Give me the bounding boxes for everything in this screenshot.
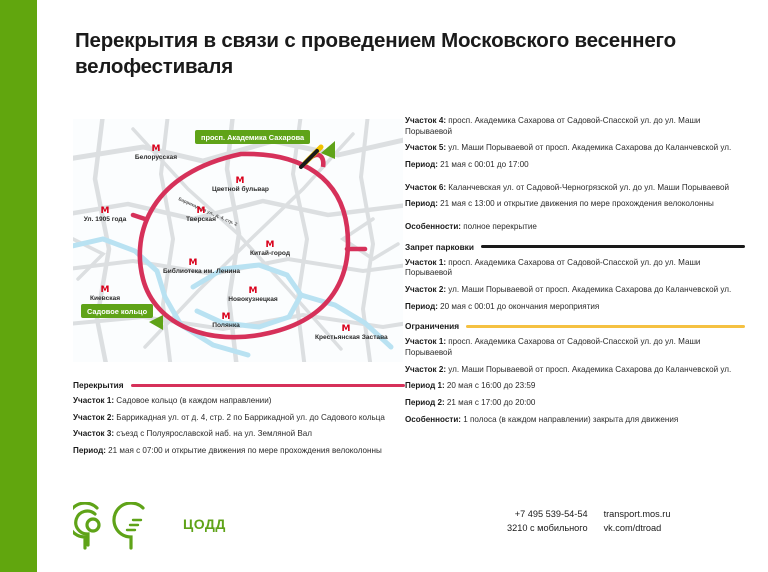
item-text: 21 мая с 13:00 и открытие движения по ме… xyxy=(438,199,714,208)
section-rule-red xyxy=(131,384,405,387)
metro-station-krestyanskaya-zastava: M Крестьянская Застава xyxy=(315,325,377,341)
item-label: Участок 1: xyxy=(73,396,114,405)
section-title: Запрет парковки xyxy=(405,242,474,252)
section-rule-yellow xyxy=(466,325,745,328)
metro-label: Библиотека им. Ленина xyxy=(163,268,223,275)
restrictions-section: Ограничения Участок 1: просп. Академика … xyxy=(405,321,745,425)
item-text: 21 мая с 17:00 до 20:00 xyxy=(445,398,536,407)
item-text: Баррикадная ул. от д. 4, стр. 2 по Барри… xyxy=(114,413,385,422)
list-item: Участок 1: просп. Академика Сахарова от … xyxy=(405,258,745,279)
item-label: Участок 1: xyxy=(405,258,446,267)
section-title: Ограничения xyxy=(405,321,459,331)
list-item: Период: 21 мая с 00:01 до 17:00 xyxy=(405,160,745,171)
closures-heading: Перекрытия xyxy=(73,380,405,390)
list-item: Участок 5: ул. Маши Порываевой от просп.… xyxy=(405,143,745,154)
item-label: Период: xyxy=(405,302,438,311)
metro-label: Крестьянская Застава xyxy=(315,334,377,341)
right-column: Участок 4: просп. Академика Сахарова от … xyxy=(405,116,745,431)
item-text: 21 мая с 07:00 и открытие движения по ме… xyxy=(106,446,382,455)
list-item: Особенности: полное перекрытие xyxy=(405,222,745,233)
section-title: Перекрытия xyxy=(73,380,124,390)
metro-station-biblioteka-im-lenina: M Библиотека им. Ленина xyxy=(163,259,223,275)
metro-label: Белорусская xyxy=(121,154,191,161)
item-label: Период: xyxy=(73,446,106,455)
item-label: Участок 2: xyxy=(405,365,446,374)
item-text: ул. Маши Порываевой от просп. Академика … xyxy=(446,285,731,294)
metro-label: Цветной бульвар xyxy=(212,186,268,193)
codd-logo xyxy=(73,502,181,557)
list-item: Период: 21 мая с 07:00 и открытие движен… xyxy=(73,446,405,457)
vk-link[interactable]: vk.com/dtroad xyxy=(604,521,671,535)
list-item: Период 2: 21 мая с 17:00 до 20:00 xyxy=(405,398,745,409)
parking-ban-section: Запрет парковки Участок 1: просп. Академ… xyxy=(405,242,745,313)
item-text: 21 мая с 00:01 до 17:00 xyxy=(438,160,529,169)
item-label: Период: xyxy=(405,160,438,169)
page-title: Перекрытия в связи с проведением Московс… xyxy=(75,28,735,80)
list-item: Участок 1: просп. Академика Сахарова от … xyxy=(405,337,745,358)
closures-section: Перекрытия Участок 1: Садовое кольцо (в … xyxy=(73,371,405,463)
metro-station-kitay-gorod: M Китай-город xyxy=(239,241,301,257)
list-item: Период: 21 мая с 13:00 и открытие движен… xyxy=(405,199,745,210)
metro-station-belorusskaya: M Белорусская xyxy=(121,145,191,161)
list-item: Период 1: 20 мая с 16:00 до 23:59 xyxy=(405,381,745,392)
codd-logo-text: ЦОДД xyxy=(183,516,226,532)
metro-icon: M xyxy=(163,259,223,267)
item-label: Участок 1: xyxy=(405,337,446,346)
item-text: Садовое кольцо (в каждом направлении) xyxy=(114,396,271,405)
list-item: Участок 4: просп. Академика Сахарова от … xyxy=(405,116,745,137)
poster-page: Перекрытия в связи с проведением Московс… xyxy=(37,0,768,572)
list-item: Особенности: 1 полоса (в каждом направле… xyxy=(405,415,745,426)
parking-ban-heading: Запрет парковки xyxy=(405,242,745,252)
metro-station-novokuznetskaya: M Новокузнецкая xyxy=(216,287,290,303)
metro-icon: M xyxy=(315,325,377,333)
brand-side-bar xyxy=(0,0,37,572)
metro-icon: M xyxy=(199,313,253,321)
item-text: Каланчевская ул. от Садовой-Черногрязско… xyxy=(446,183,729,192)
metro-label: Китай-город xyxy=(239,250,301,257)
metro-label: Киевская xyxy=(77,295,133,302)
metro-icon: M xyxy=(77,286,133,294)
item-label: Участок 2: xyxy=(405,285,446,294)
item-label: Участок 4: xyxy=(405,116,446,125)
list-item: Период: 20 мая с 00:01 до окончания меро… xyxy=(405,302,745,313)
item-text: съезд с Полуярославской наб. на ул. Земл… xyxy=(114,429,312,438)
phone-number: +7 495 539-54-54 xyxy=(507,507,588,521)
item-label: Участок 3: xyxy=(73,429,114,438)
metro-icon: M xyxy=(173,207,229,215)
item-label: Участок 2: xyxy=(73,413,114,422)
item-label: Особенности: xyxy=(405,222,461,231)
footer: ЦОДД +7 495 539-54-54 3210 с мобильного … xyxy=(37,492,768,572)
site-link[interactable]: transport.mos.ru xyxy=(604,507,671,521)
metro-label: Полянка xyxy=(199,322,253,329)
item-text: просп. Академика Сахарова от Садовой-Спа… xyxy=(405,337,700,357)
item-text: 1 полоса (в каждом направлении) закрыта … xyxy=(461,415,678,424)
codd-logo-icon xyxy=(73,502,181,552)
metro-label: Тверская xyxy=(173,216,229,223)
metro-station-ul-1905-goda: M Ул. 1905 года xyxy=(76,207,134,223)
list-item: Участок 3: съезд с Полуярославской наб. … xyxy=(73,429,405,440)
item-label: Период 2: xyxy=(405,398,445,407)
metro-label: Новокузнецкая xyxy=(216,296,290,303)
item-text: ул. Маши Порываевой от просп. Академика … xyxy=(446,365,731,374)
list-item: Участок 2: Баррикадная ул. от д. 4, стр.… xyxy=(73,413,405,424)
metro-label: Ул. 1905 года xyxy=(76,216,134,223)
list-item: Участок 1: Садовое кольцо (в каждом напр… xyxy=(73,396,405,407)
metro-station-tverskaya: M Тверская xyxy=(173,207,229,223)
metro-icon: M xyxy=(216,287,290,295)
map-badge-sakharov: просп. Академика Сахарова xyxy=(195,130,310,144)
item-label: Период 1: xyxy=(405,381,445,390)
item-label: Период: xyxy=(405,199,438,208)
map-badge-sadovoe: Садовое кольцо xyxy=(81,304,153,318)
metro-icon: M xyxy=(212,177,268,185)
metro-station-tsvetnoy-bulvar: M Цветной бульвар xyxy=(212,177,268,193)
list-item: Участок 2: ул. Маши Порываевой от просп.… xyxy=(405,365,745,376)
list-item: Участок 6: Каланчевская ул. от Садовой-Ч… xyxy=(405,183,745,194)
metro-icon: M xyxy=(76,207,134,215)
metro-station-polyanka: M Полянка xyxy=(199,313,253,329)
item-text: полное перекрытие xyxy=(461,222,537,231)
item-text: 20 мая с 00:01 до окончания мероприятия xyxy=(438,302,599,311)
item-label: Особенности: xyxy=(405,415,461,424)
item-text: ул. Маши Порываевой от просп. Академика … xyxy=(446,143,731,152)
metro-icon: M xyxy=(121,145,191,153)
restrictions-heading: Ограничения xyxy=(405,321,745,331)
item-label: Участок 6: xyxy=(405,183,446,192)
item-text: просп. Академика Сахарова от Садовой-Спа… xyxy=(405,116,700,136)
phone-column: +7 495 539-54-54 3210 с мобильного xyxy=(507,507,588,536)
item-text: 20 мая с 16:00 до 23:59 xyxy=(445,381,536,390)
web-column: transport.mos.ru vk.com/dtroad xyxy=(604,507,671,536)
item-text: просп. Академика Сахарова от Садовой-Спа… xyxy=(405,258,700,278)
closures-continued: Участок 4: просп. Академика Сахарова от … xyxy=(405,116,745,233)
closure-map: просп. Академика Сахарова Садовое кольцо… xyxy=(73,119,403,362)
contact-block: +7 495 539-54-54 3210 с мобильного trans… xyxy=(507,507,670,536)
item-label: Участок 5: xyxy=(405,143,446,152)
section-rule-black xyxy=(481,245,745,248)
metro-icon: M xyxy=(239,241,301,249)
metro-station-kievskaya: M Киевская xyxy=(77,286,133,302)
phone-mobile: 3210 с мобильного xyxy=(507,521,588,535)
list-item: Участок 2: ул. Маши Порываевой от просп.… xyxy=(405,285,745,296)
